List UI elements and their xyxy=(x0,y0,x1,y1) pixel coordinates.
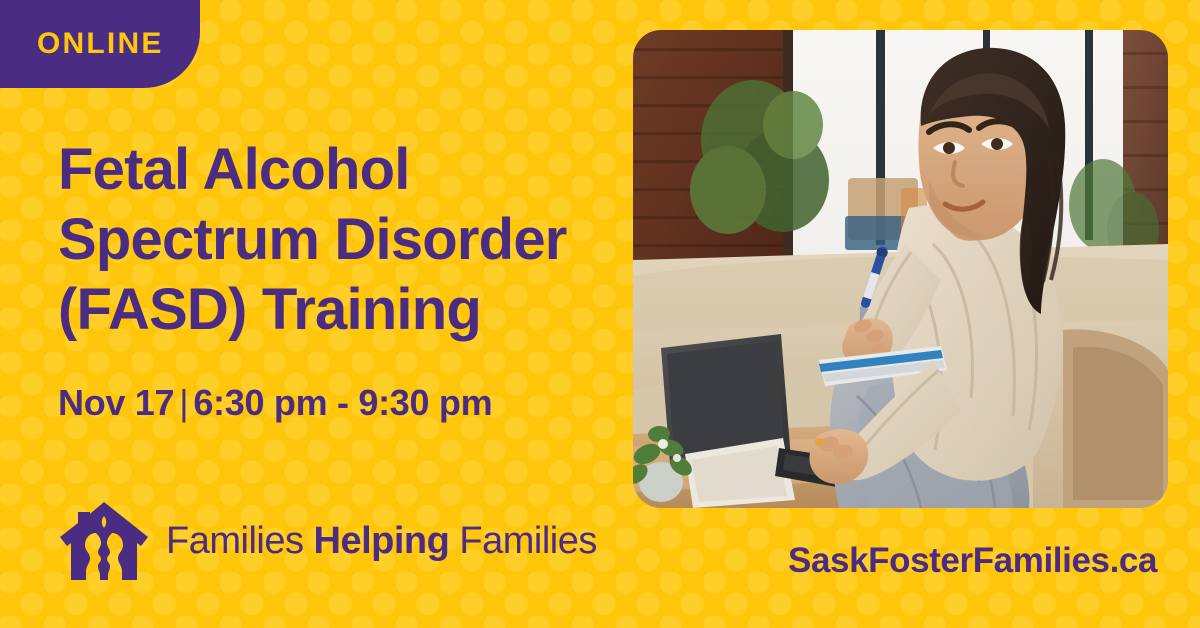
page-title-line-1: Fetal Alcohol xyxy=(58,135,618,205)
online-badge-label: ONLINE xyxy=(0,29,164,59)
house-with-family-candle-icon xyxy=(58,500,150,582)
website-url: SaskFosterFamilies.ca xyxy=(788,543,1157,578)
wordmark-part-1: Families xyxy=(166,520,303,562)
schedule-separator: | xyxy=(174,382,193,423)
page-title-line-2: Spectrum Disorder xyxy=(58,205,618,275)
photo-illustration xyxy=(633,30,1168,508)
organization-wordmark: Families Helping Families xyxy=(166,522,597,560)
promo-poster: ONLINE Fetal Alcohol Spectrum Disorder (… xyxy=(0,0,1200,628)
page-title-line-3: (FASD) Training xyxy=(58,275,618,345)
event-photo xyxy=(633,30,1168,508)
event-schedule: Nov 17|6:30 pm - 9:30 pm xyxy=(58,383,492,423)
wordmark-part-2: Helping xyxy=(314,520,450,562)
online-badge: ONLINE xyxy=(0,0,200,88)
page-title: Fetal Alcohol Spectrum Disorder (FASD) T… xyxy=(58,135,618,345)
organization-logo: Families Helping Families xyxy=(58,500,597,582)
wordmark-part-3: Families xyxy=(459,520,596,562)
event-date: Nov 17 xyxy=(58,382,174,423)
event-time: 6:30 pm - 9:30 pm xyxy=(193,382,492,423)
